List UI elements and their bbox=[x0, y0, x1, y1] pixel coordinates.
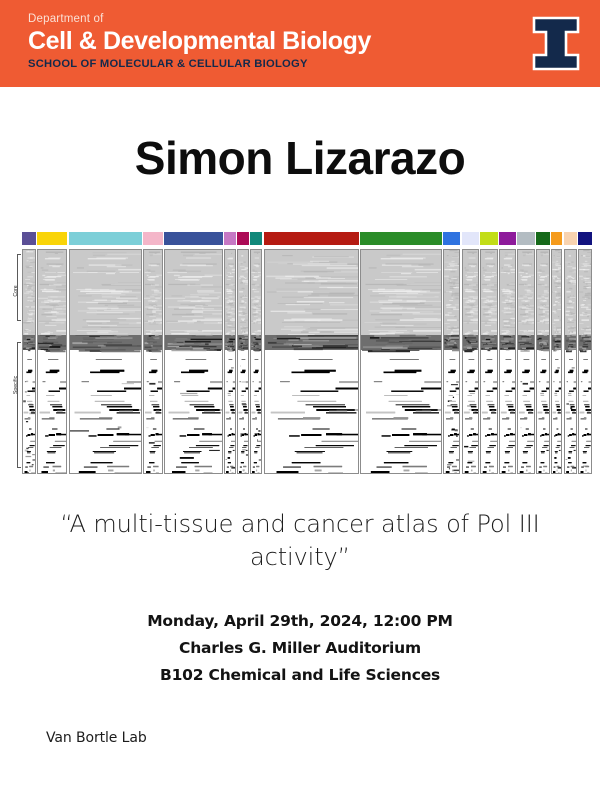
heatmap-column-13 bbox=[480, 232, 497, 480]
header-eyebrow: Department of bbox=[28, 12, 498, 26]
heatmap-column-14 bbox=[499, 232, 516, 480]
heatmap-column-body-4 bbox=[143, 249, 163, 474]
heatmap-column-swatch-10 bbox=[360, 232, 442, 245]
heatmap-column-16 bbox=[536, 232, 550, 480]
heatmap-column-7 bbox=[237, 232, 249, 480]
heatmap-column-4 bbox=[143, 232, 163, 480]
heatmap-column-10 bbox=[360, 232, 442, 480]
heatmap-column-body-1 bbox=[22, 249, 36, 474]
heatmap-column-swatch-5 bbox=[164, 232, 223, 245]
specific-group-bracket bbox=[17, 342, 21, 468]
heatmap-column-body-15 bbox=[517, 249, 534, 474]
heatmap-column-18 bbox=[564, 232, 577, 480]
heatmap-column-11 bbox=[443, 232, 460, 480]
heatmap-signal-texture bbox=[165, 250, 222, 473]
heatmap-signal-texture bbox=[463, 250, 478, 473]
heatmap-column-swatch-19 bbox=[578, 232, 592, 245]
heatmap-signal-texture bbox=[23, 250, 35, 473]
event-venue: Charles G. Miller Auditorium bbox=[0, 635, 600, 662]
heatmap-signal-texture bbox=[144, 250, 162, 473]
heatmap-signal-texture bbox=[70, 250, 142, 473]
heatmap-column-body-19 bbox=[578, 249, 592, 474]
heatmap-signal-texture bbox=[265, 250, 358, 473]
heatmap-column-17 bbox=[551, 232, 562, 480]
heatmap-signal-texture bbox=[238, 250, 248, 473]
heatmap-signal-texture bbox=[579, 250, 591, 473]
heatmap-column-19 bbox=[578, 232, 592, 480]
heatmap-column-swatch-1 bbox=[22, 232, 36, 245]
heatmap-column-3 bbox=[69, 232, 143, 480]
event-datetime: Monday, April 29th, 2024, 12:00 PM bbox=[0, 608, 600, 635]
heatmap-column-swatch-16 bbox=[536, 232, 550, 245]
heatmap-column-swatch-4 bbox=[143, 232, 163, 245]
heatmap-column-2 bbox=[37, 232, 67, 480]
heatmap-column-8 bbox=[250, 232, 262, 480]
heatmap-signal-texture bbox=[251, 250, 261, 473]
heatmap-column-5 bbox=[164, 232, 223, 480]
heatmap-column-9 bbox=[264, 232, 359, 480]
header-department-title: Cell & Developmental Biology bbox=[28, 27, 498, 56]
heatmap-column-panels bbox=[22, 232, 592, 480]
heatmap-column-swatch-15 bbox=[517, 232, 534, 245]
heatmap-column-body-14 bbox=[499, 249, 516, 474]
heatmap-column-swatch-12 bbox=[462, 232, 479, 245]
heatmap-column-swatch-18 bbox=[564, 232, 577, 245]
heatmap-column-body-2 bbox=[37, 249, 67, 474]
heatmap-signal-texture bbox=[500, 250, 515, 473]
heatmap-column-body-16 bbox=[536, 249, 550, 474]
row-group-label-specific: Specific bbox=[13, 365, 19, 405]
heatmap-column-swatch-9 bbox=[264, 232, 359, 245]
heatmap-signal-texture bbox=[38, 250, 66, 473]
heatmap-signal-texture bbox=[518, 250, 533, 473]
department-header-banner: Department of Cell & Developmental Biolo… bbox=[0, 0, 600, 87]
header-text-block: Department of Cell & Developmental Biolo… bbox=[28, 12, 498, 71]
talk-title: “A multi-tissue and cancer atlas of Pol … bbox=[40, 508, 560, 574]
heatmap-column-body-9 bbox=[264, 249, 359, 474]
heatmap-column-body-8 bbox=[250, 249, 262, 474]
pol3-activity-heatmap-figure: Core Specific bbox=[8, 232, 592, 480]
heatmap-column-body-18 bbox=[564, 249, 577, 474]
heatmap-column-body-13 bbox=[480, 249, 497, 474]
heatmap-column-swatch-2 bbox=[37, 232, 67, 245]
heatmap-signal-texture bbox=[361, 250, 441, 473]
heatmap-column-body-6 bbox=[224, 249, 236, 474]
heatmap-signal-texture bbox=[537, 250, 549, 473]
lab-name: Van Bortle Lab bbox=[46, 730, 147, 746]
heatmap-column-body-10 bbox=[360, 249, 442, 474]
heatmap-column-body-5 bbox=[164, 249, 223, 474]
speaker-name: Simon Lizarazo bbox=[0, 130, 600, 186]
heatmap-column-15 bbox=[517, 232, 534, 480]
event-details: Monday, April 29th, 2024, 12:00 PM Charl… bbox=[0, 608, 600, 689]
heatmap-signal-texture bbox=[552, 250, 561, 473]
illinois-block-i-logo bbox=[528, 12, 584, 75]
event-building: B102 Chemical and Life Sciences bbox=[0, 662, 600, 689]
heatmap-column-12 bbox=[462, 232, 479, 480]
heatmap-column-swatch-14 bbox=[499, 232, 516, 245]
heatmap-column-1 bbox=[22, 232, 36, 480]
heatmap-column-swatch-8 bbox=[250, 232, 262, 245]
heatmap-column-swatch-3 bbox=[69, 232, 143, 245]
heatmap-signal-texture bbox=[225, 250, 235, 473]
heatmap-column-body-12 bbox=[462, 249, 479, 474]
row-group-label-core: Core bbox=[13, 271, 19, 311]
heatmap-column-body-7 bbox=[237, 249, 249, 474]
heatmap-column-swatch-7 bbox=[237, 232, 249, 245]
heatmap-signal-texture bbox=[444, 250, 459, 473]
heatmap-column-body-11 bbox=[443, 249, 460, 474]
heatmap-signal-texture bbox=[565, 250, 576, 473]
heatmap-column-swatch-13 bbox=[480, 232, 497, 245]
heatmap-column-body-17 bbox=[551, 249, 562, 474]
header-school-name: SCHOOL OF MOLECULAR & CELLULAR BIOLOGY bbox=[28, 57, 498, 71]
heatmap-signal-texture bbox=[481, 250, 496, 473]
heatmap-column-body-3 bbox=[69, 249, 143, 474]
heatmap-column-swatch-17 bbox=[551, 232, 562, 245]
heatmap-column-swatch-6 bbox=[224, 232, 236, 245]
heatmap-column-swatch-11 bbox=[443, 232, 460, 245]
heatmap-column-6 bbox=[224, 232, 236, 480]
